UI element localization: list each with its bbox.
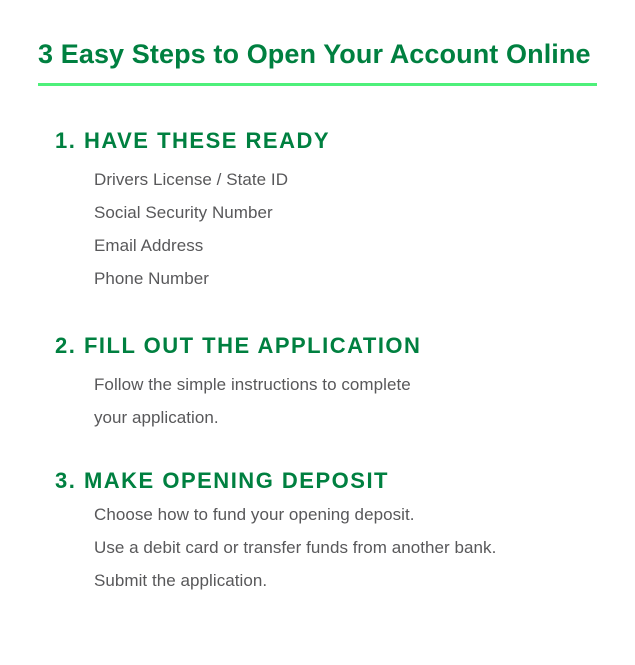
- step-lines-2: Follow the simple instructions to comple…: [0, 361, 635, 434]
- step-line: Submit the application.: [94, 564, 635, 597]
- step-heading-1: 1. HAVE THESE READY: [0, 126, 635, 156]
- step-line: Follow the simple instructions to comple…: [94, 368, 635, 401]
- step-line: your application.: [94, 401, 635, 434]
- step-item-3: 3. MAKE OPENING DEPOSIT Choose how to fu…: [0, 466, 635, 597]
- step-line: Use a debit card or transfer funds from …: [94, 531, 635, 564]
- title-divider: [38, 83, 597, 86]
- step-line: Phone Number: [94, 262, 635, 295]
- step-item-1: 1. HAVE THESE READY Drivers License / St…: [0, 126, 635, 295]
- step-line: Drivers License / State ID: [94, 163, 635, 196]
- step-line: Email Address: [94, 229, 635, 262]
- step-line: Choose how to fund your opening deposit.: [94, 498, 635, 531]
- step-heading-3: 3. MAKE OPENING DEPOSIT: [0, 466, 635, 496]
- step-item-2: 2. FILL OUT THE APPLICATION Follow the s…: [0, 331, 635, 434]
- steps-list: 1. HAVE THESE READY Drivers License / St…: [0, 126, 635, 597]
- title-block: 3 Easy Steps to Open Your Account Online: [38, 38, 598, 86]
- step-lines-3: Choose how to fund your opening deposit.…: [0, 496, 635, 597]
- step-heading-2: 2. FILL OUT THE APPLICATION: [0, 331, 635, 361]
- step-lines-1: Drivers License / State ID Social Securi…: [0, 156, 635, 295]
- step-line: Social Security Number: [94, 196, 635, 229]
- steps-infographic: 3 Easy Steps to Open Your Account Online…: [0, 0, 635, 665]
- page-title: 3 Easy Steps to Open Your Account Online: [38, 38, 598, 70]
